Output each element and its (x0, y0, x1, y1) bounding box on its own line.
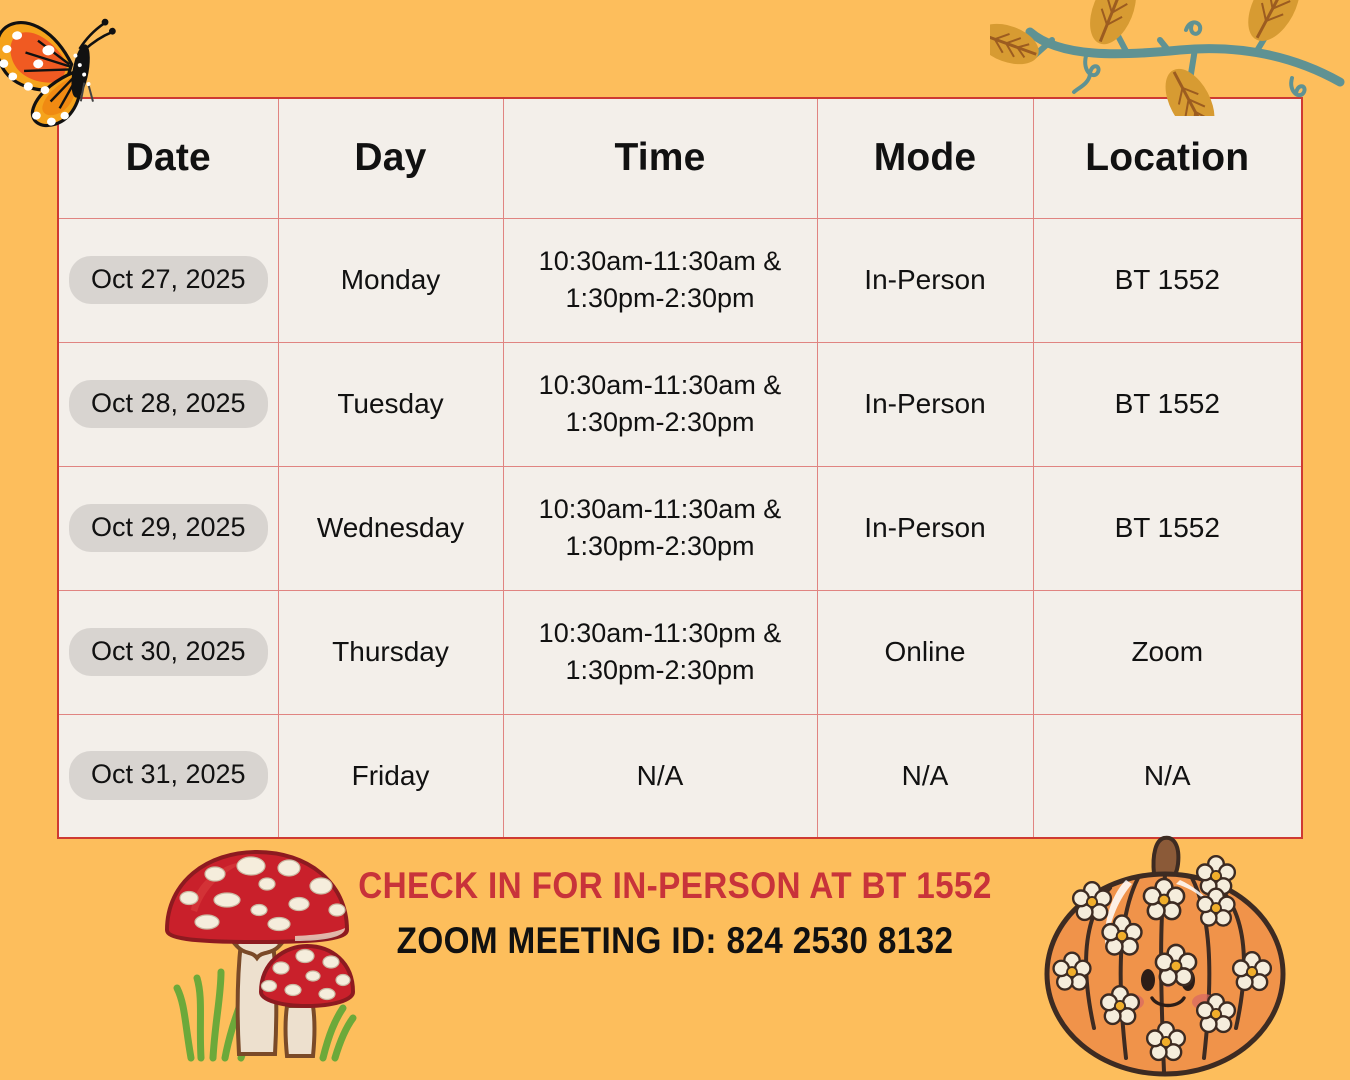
cell-day: Thursday (278, 590, 503, 714)
table-row: Oct 29, 2025 Wednesday 10:30am-11:30am &… (58, 466, 1302, 590)
time-line-2: 1:30pm-2:30pm (565, 531, 754, 561)
cell-date: Oct 29, 2025 (58, 466, 278, 590)
time-line-2: 1:30pm-2:30pm (565, 283, 754, 313)
column-header-location: Location (1033, 98, 1302, 218)
time-line-1: 10:30am-11:30pm & (539, 618, 782, 648)
schedule-table: Date Day Time Mode Location Oct 27, 2025… (57, 97, 1303, 839)
table-row: Oct 28, 2025 Tuesday 10:30am-11:30am & 1… (58, 342, 1302, 466)
cell-time: 10:30am-11:30am & 1:30pm-2:30pm (503, 218, 817, 342)
cell-time: 10:30am-11:30pm & 1:30pm-2:30pm (503, 590, 817, 714)
cell-location: N/A (1033, 714, 1302, 838)
date-badge: Oct 31, 2025 (69, 751, 268, 800)
time-line-1: 10:30am-11:30am & (539, 494, 782, 524)
time-line-2: 1:30pm-2:30pm (565, 407, 754, 437)
cell-mode: N/A (817, 714, 1033, 838)
cell-location: BT 1552 (1033, 342, 1302, 466)
time-line-1: 10:30am-11:30am & (539, 246, 782, 276)
cell-day: Tuesday (278, 342, 503, 466)
schedule-table-container: Date Day Time Mode Location Oct 27, 2025… (57, 97, 1301, 839)
cell-date: Oct 31, 2025 (58, 714, 278, 838)
cell-time: 10:30am-11:30am & 1:30pm-2:30pm (503, 342, 817, 466)
date-badge: Oct 30, 2025 (69, 628, 268, 677)
date-badge: Oct 28, 2025 (69, 380, 268, 429)
column-header-day: Day (278, 98, 503, 218)
date-badge: Oct 27, 2025 (69, 256, 268, 305)
cell-location: BT 1552 (1033, 218, 1302, 342)
footer-notes: Check in for in-person at BT 1552 Zoom M… (0, 866, 1350, 961)
checkin-note: Check in for in-person at BT 1552 (68, 866, 1283, 907)
column-header-time: Time (503, 98, 817, 218)
table-row: Oct 31, 2025 Friday N/A N/A N/A (58, 714, 1302, 838)
column-header-date: Date (58, 98, 278, 218)
time-line-2: 1:30pm-2:30pm (565, 655, 754, 685)
cell-mode: In-Person (817, 218, 1033, 342)
cell-location: BT 1552 (1033, 466, 1302, 590)
time-line-1: 10:30am-11:30am & (539, 370, 782, 400)
table-header-row: Date Day Time Mode Location (58, 98, 1302, 218)
cell-time: N/A (503, 714, 817, 838)
cell-location: Zoom (1033, 590, 1302, 714)
cell-mode: In-Person (817, 466, 1033, 590)
cell-day: Monday (278, 218, 503, 342)
table-row: Oct 27, 2025 Monday 10:30am-11:30am & 1:… (58, 218, 1302, 342)
cell-mode: In-Person (817, 342, 1033, 466)
table-row: Oct 30, 2025 Thursday 10:30am-11:30pm & … (58, 590, 1302, 714)
cell-date: Oct 27, 2025 (58, 218, 278, 342)
zoom-meeting-id-note: Zoom Meeting ID: 824 2530 8132 (68, 921, 1283, 962)
cell-date: Oct 30, 2025 (58, 590, 278, 714)
date-badge: Oct 29, 2025 (69, 504, 268, 553)
cell-day: Friday (278, 714, 503, 838)
cell-day: Wednesday (278, 466, 503, 590)
cell-time: 10:30am-11:30am & 1:30pm-2:30pm (503, 466, 817, 590)
cell-date: Oct 28, 2025 (58, 342, 278, 466)
cell-mode: Online (817, 590, 1033, 714)
column-header-mode: Mode (817, 98, 1033, 218)
